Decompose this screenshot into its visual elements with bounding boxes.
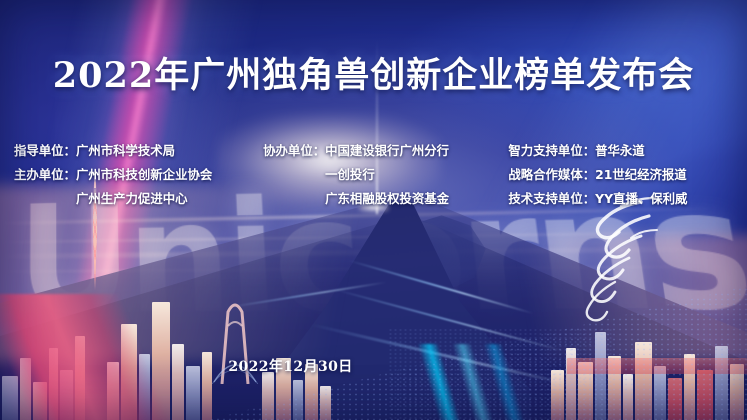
vignette-overlay [0,0,747,420]
event-poster: Unicorns [0,0,747,420]
